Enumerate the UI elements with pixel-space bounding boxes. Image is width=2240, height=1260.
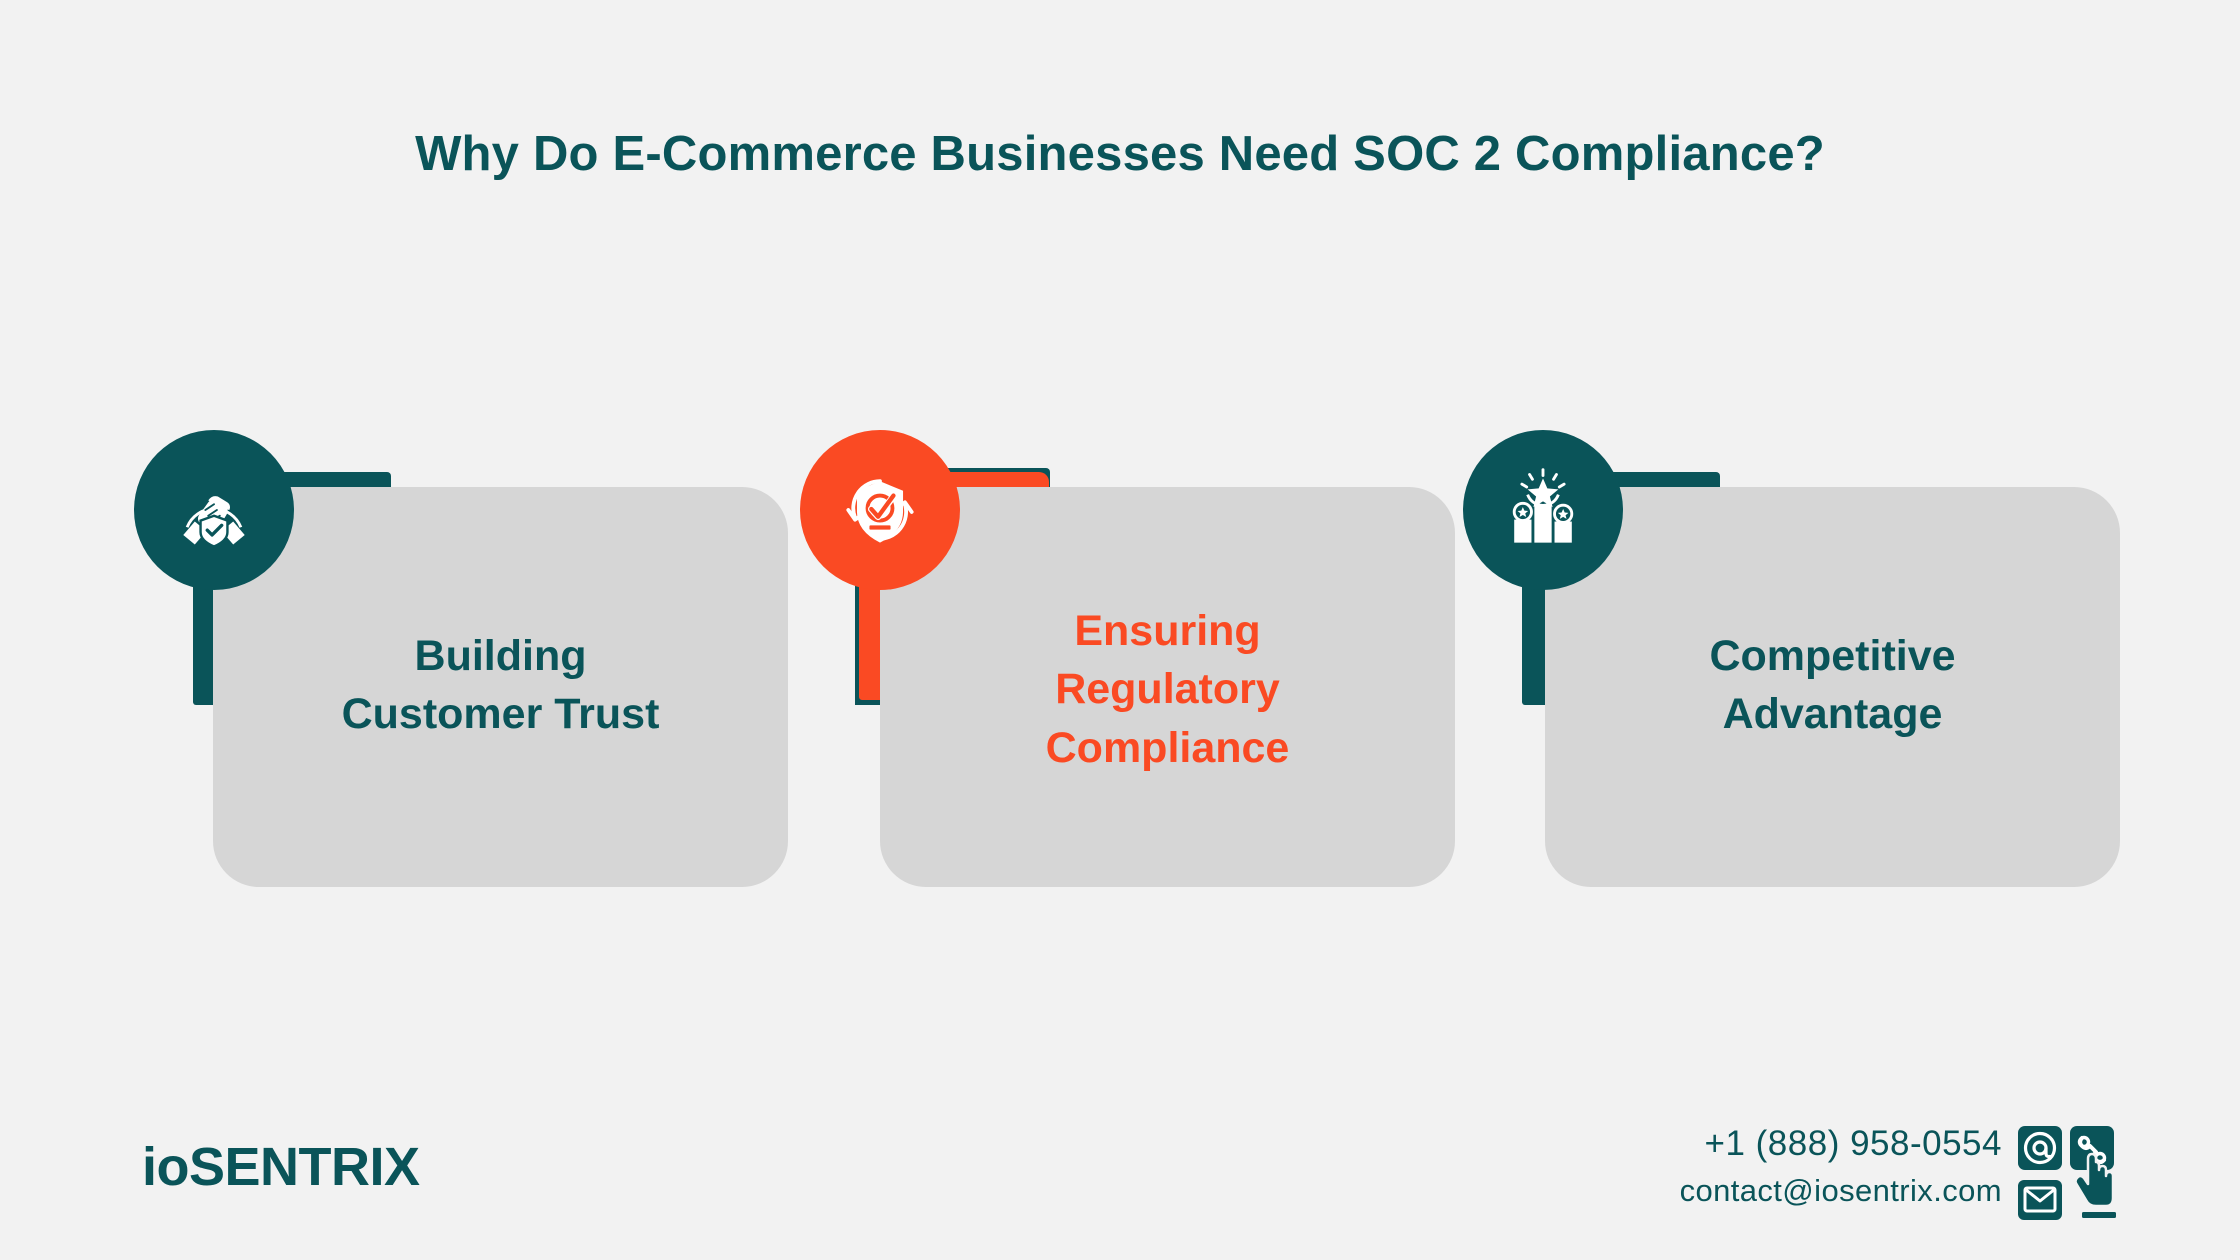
logo-suffix: SENTRIX bbox=[189, 1137, 420, 1197]
logo-prefix: io bbox=[142, 1137, 189, 1197]
step-3-label: Competitive Advantage bbox=[1598, 627, 2068, 744]
step-2-label: Ensuring Regulatory Compliance bbox=[933, 602, 1403, 777]
infographic-canvas: Why Do E-Commerce Businesses Need SOC 2 … bbox=[0, 0, 2240, 1260]
at-sign-icon bbox=[2018, 1126, 2062, 1170]
contact-phone[interactable]: +1 (888) 958-0554 bbox=[1680, 1122, 2002, 1167]
step-1-card[interactable]: Building Customer Trust bbox=[213, 487, 788, 887]
step-3-badge[interactable] bbox=[1463, 430, 1623, 590]
contact-icon-grid bbox=[2016, 1124, 2120, 1228]
step-3-card[interactable]: Competitive Advantage bbox=[1545, 487, 2120, 887]
podium-star-icon bbox=[1495, 462, 1591, 558]
handshake-shield-check-icon bbox=[166, 462, 262, 558]
contact-info: +1 (888) 958-0554 contact@iosentrix.com bbox=[1680, 1122, 2002, 1211]
step-2-badge[interactable] bbox=[800, 430, 960, 590]
contact-email[interactable]: contact@iosentrix.com bbox=[1680, 1171, 2002, 1211]
brand-logo: ioSENTRIX bbox=[142, 1136, 420, 1198]
envelope-icon bbox=[2018, 1180, 2062, 1220]
shield-check-refresh-icon bbox=[832, 462, 928, 558]
page-title: Why Do E-Commerce Businesses Need SOC 2 … bbox=[0, 126, 2240, 182]
step-1-badge[interactable] bbox=[134, 430, 294, 590]
step-1-label: Building Customer Trust bbox=[266, 627, 736, 744]
step-2-card[interactable]: Ensuring Regulatory Compliance bbox=[880, 487, 1455, 887]
